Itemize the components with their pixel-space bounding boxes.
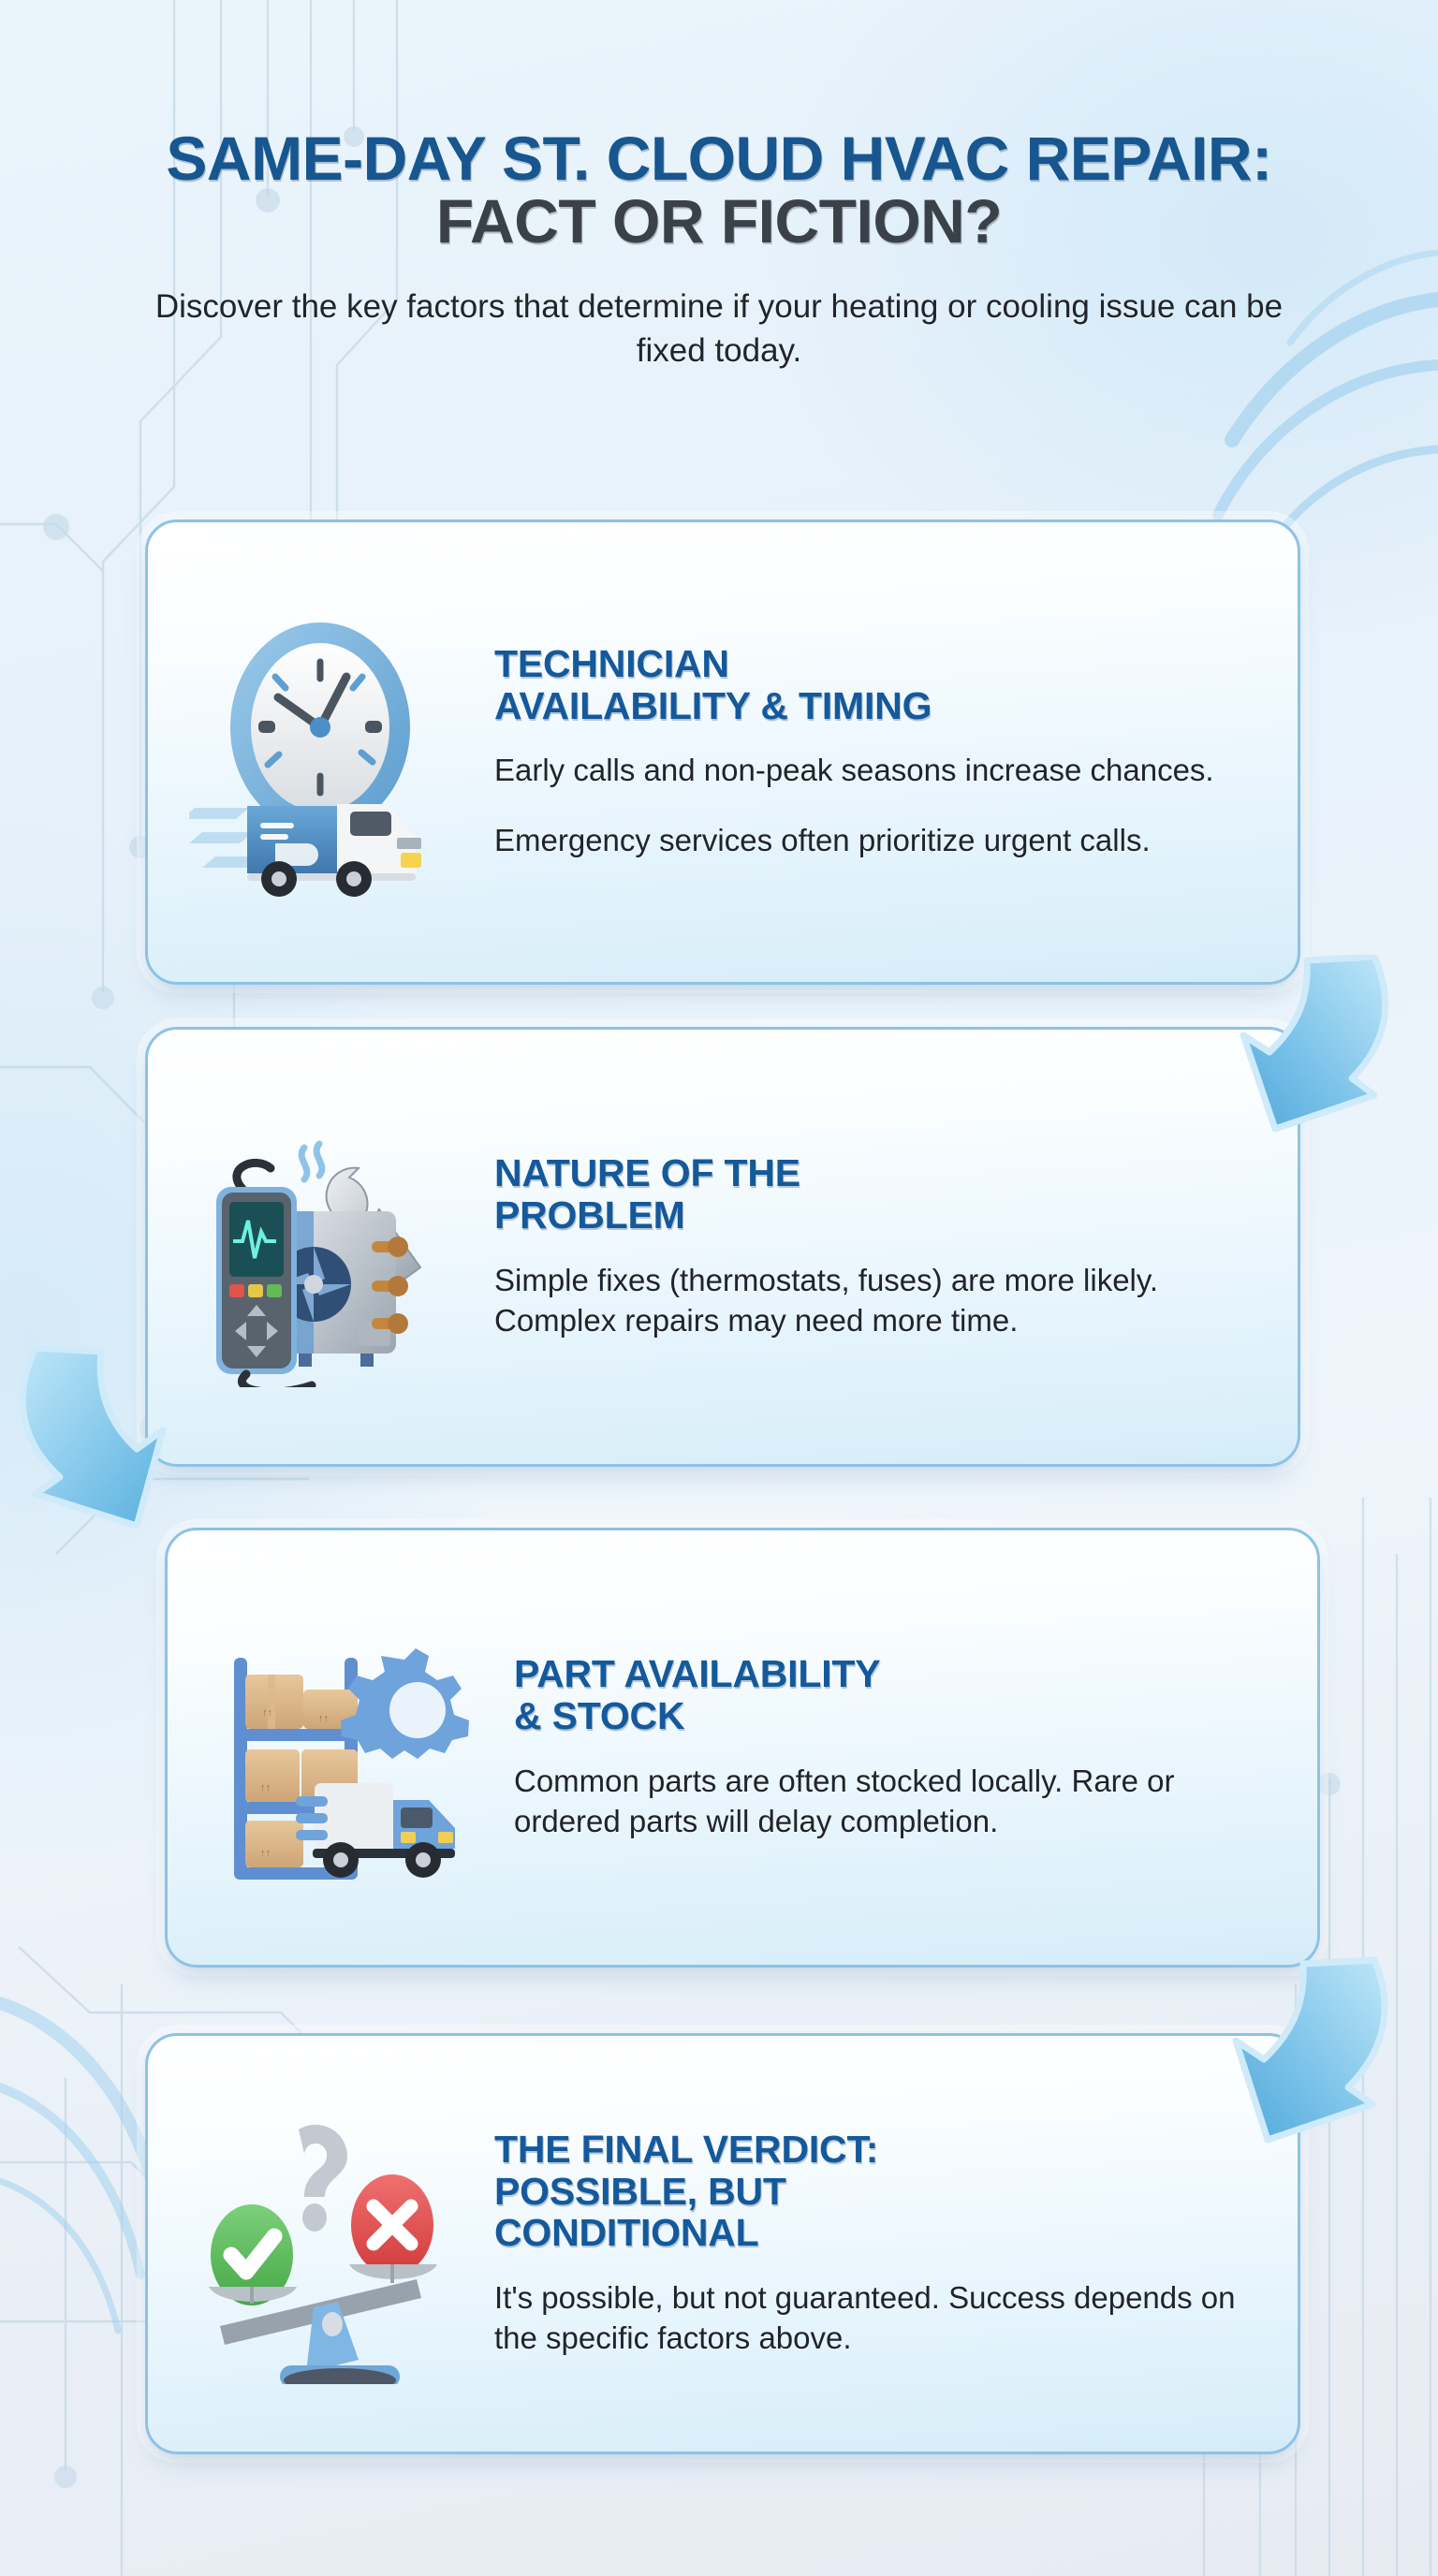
card-paragraph: Early calls and non-peak seasons increas… [494, 751, 1255, 791]
svg-text:↑↑: ↑↑ [260, 1782, 271, 1793]
page-subtitle: Discover the key factors that determine … [0, 285, 1438, 373]
svg-text:↑↑: ↑↑ [262, 1707, 272, 1719]
factor-card-final-verdict: THE FINAL VERDICT: POSSIBLE, BUT CONDITI… [145, 2033, 1300, 2454]
card-body: PART AVAILABILITY & STOCK Common parts a… [508, 1653, 1274, 1841]
card-paragraph: It's possible, but not guaranteed. Succe… [494, 2278, 1255, 2359]
svg-text:↑↑: ↑↑ [260, 1848, 271, 1859]
factor-card-technician-availability: TECHNICIAN AVAILABILITY & TIMING Early c… [145, 520, 1300, 985]
diagnostic-meter-hvac-unit-wrench-icon [180, 1092, 489, 1401]
card-title: THE FINAL VERDICT: POSSIBLE, BUT CONDITI… [494, 2129, 1255, 2254]
card-title: NATURE OF THE PROBLEM [494, 1152, 1255, 1236]
header: SAME-DAY ST. CLOUD HVAC REPAIR: FACT OR … [0, 127, 1438, 373]
svg-text:↑↑: ↑↑ [318, 1713, 329, 1724]
card-title: PART AVAILABILITY & STOCK [514, 1653, 1274, 1736]
infographic-page: SAME-DAY ST. CLOUD HVAC REPAIR: FACT OR … [0, 0, 1438, 2576]
clock-and-delivery-truck-icon [180, 598, 489, 907]
card-body: NATURE OF THE PROBLEM Simple fixes (ther… [489, 1152, 1255, 1340]
warehouse-shelf-gear-truck-icon: ↑↑↑↑ ↑↑↑↑ ↑↑ [199, 1593, 508, 1902]
card-body: TECHNICIAN AVAILABILITY & TIMING Early c… [489, 643, 1255, 861]
card-paragraph: Emergency services often prioritize urge… [494, 821, 1255, 861]
card-title: TECHNICIAN AVAILABILITY & TIMING [494, 643, 1255, 726]
page-title-blue-part: SAME-DAY ST. CLOUD HVAC REPAIR: [166, 124, 1271, 193]
card-paragraph: Common parts are often stocked locally. … [514, 1762, 1274, 1842]
balance-scale-check-cross-question-icon [180, 2089, 489, 2398]
page-title: SAME-DAY ST. CLOUD HVAC REPAIR: FACT OR … [0, 127, 1438, 254]
factor-card-part-availability: ↑↑↑↑ ↑↑↑↑ ↑↑ [165, 1528, 1320, 1968]
card-paragraph: Simple fixes (thermostats, fuses) are mo… [494, 1261, 1255, 1341]
factor-card-nature-of-problem: NATURE OF THE PROBLEM Simple fixes (ther… [145, 1027, 1300, 1467]
page-title-dark-part: FACT OR FICTION? [436, 186, 1002, 256]
card-body: THE FINAL VERDICT: POSSIBLE, BUT CONDITI… [489, 2129, 1255, 2359]
